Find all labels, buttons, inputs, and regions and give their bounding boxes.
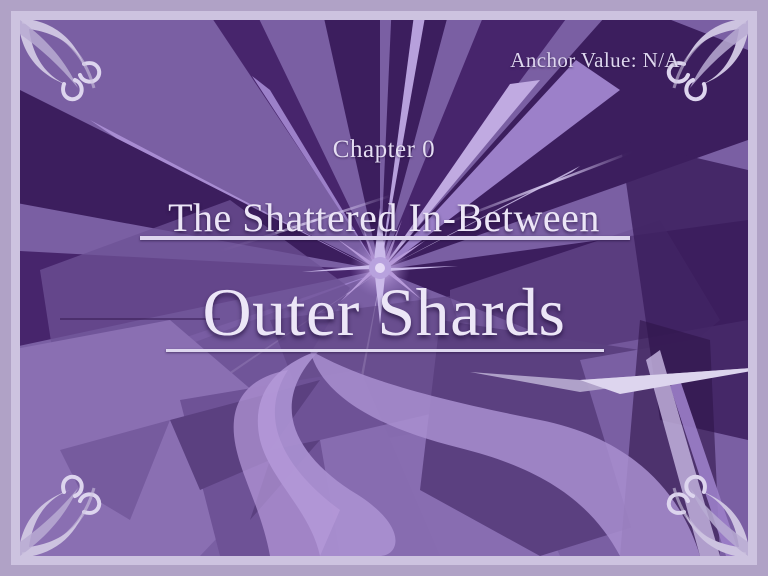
title-text: Outer Shards (203, 274, 566, 350)
subtitle-underline (140, 236, 630, 240)
title-wrap: Outer Shards (0, 278, 768, 346)
anchor-value-label: Anchor Value: N/A (510, 48, 680, 73)
chapter-label: Chapter 0 (0, 136, 768, 164)
text-layer: Anchor Value: N/A Chapter 0 The Shattere… (0, 0, 768, 576)
subtitle-wrap: The Shattered In-Between (0, 198, 768, 238)
subtitle-text: The Shattered In-Between (168, 195, 600, 240)
title-underline (166, 349, 604, 352)
title-card: Anchor Value: N/A Chapter 0 The Shattere… (0, 0, 768, 576)
